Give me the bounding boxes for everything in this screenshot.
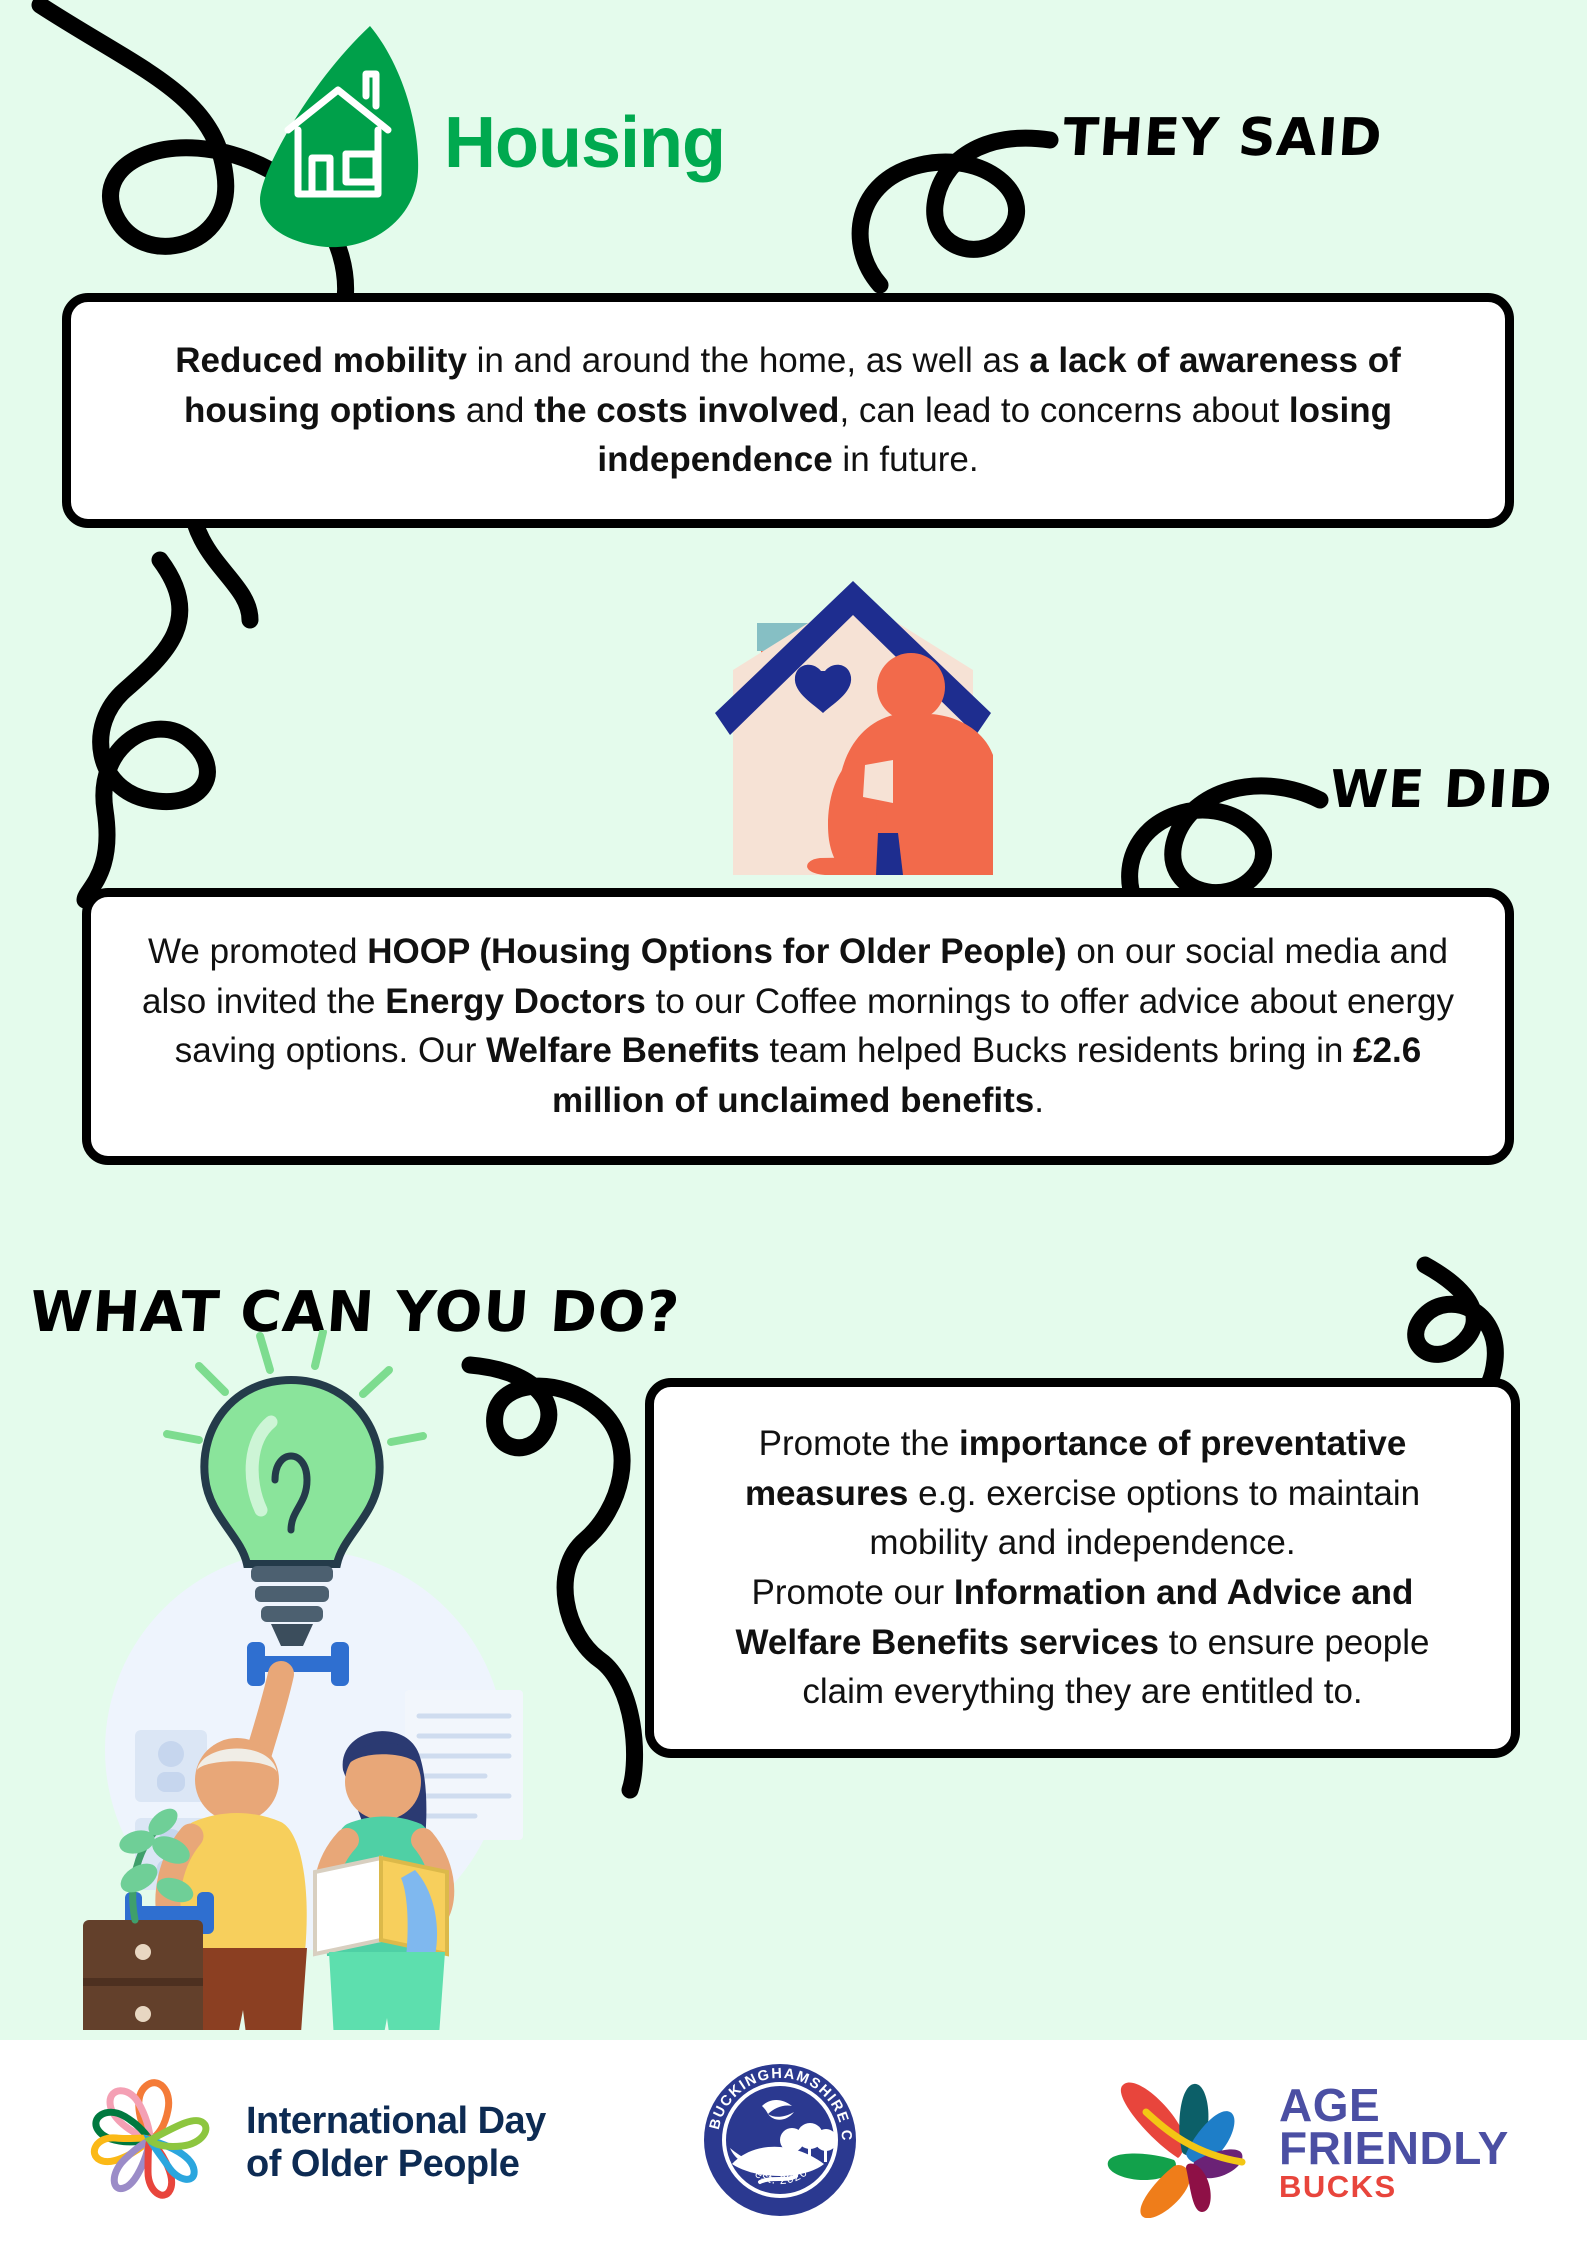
afb-line-2: FRIENDLY [1279, 2127, 1509, 2170]
they-said-label: THEY SAID [1061, 108, 1385, 168]
section-header: Housing [250, 22, 725, 250]
what-can-you-do-paragraph-1: Promote the importance of preventative m… [692, 1419, 1473, 1568]
age-friendly-bucks-logo: AGE FRIENDLY BUCKS [1090, 2068, 1509, 2218]
two-people-exercising-and-reading-icon [75, 1330, 635, 2030]
what-can-you-do-callout-box: Promote the importance of preventative m… [645, 1378, 1520, 1758]
they-said-callout-box: Reduced mobility in and around the home,… [62, 293, 1514, 528]
idop-flower-icon [80, 2068, 230, 2218]
footer-logo-bar: International Day of Older People [0, 2040, 1587, 2245]
idop-line-2: of Older People [246, 2143, 546, 2186]
person-sitting-in-house-icon [693, 575, 993, 875]
afb-line-3: BUCKS [1279, 2173, 1509, 2202]
bucks-council-seal-icon: BUCKINGHAMSHIRE COUNCIL est. 2020 [700, 2060, 860, 2220]
what-can-you-do-paragraph-2: Promote our Information and Advice and W… [692, 1568, 1473, 1717]
we-did-callout-box: We promoted HOOP (Housing Options for Ol… [82, 888, 1514, 1165]
they-said-text: Reduced mobility in and around the home,… [111, 336, 1465, 485]
we-did-text: We promoted HOOP (Housing Options for Ol… [139, 927, 1457, 1126]
international-day-of-older-people-logo: International Day of Older People [80, 2068, 546, 2218]
page-title: Housing [444, 107, 725, 179]
buckinghamshire-council-logo: BUCKINGHAMSHIRE COUNCIL est. 2020 [700, 2060, 860, 2220]
house-pin-icon [250, 22, 426, 250]
we-did-label: WE DID [1328, 760, 1555, 820]
idop-line-1: International Day [246, 2100, 546, 2143]
age-friendly-bucks-fan-icon [1090, 2068, 1265, 2218]
afb-line-1: AGE [1279, 2084, 1509, 2127]
infographic-poster: Housing THEY SAID WE DID WHAT CAN YOU DO… [0, 0, 1587, 2245]
